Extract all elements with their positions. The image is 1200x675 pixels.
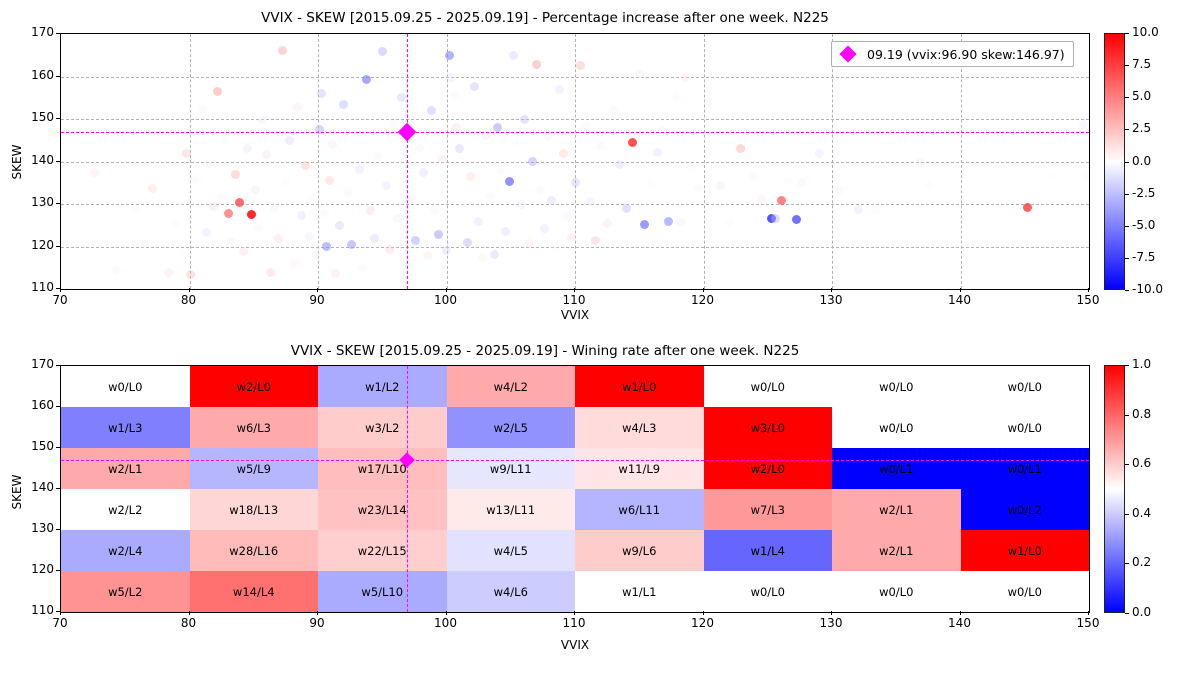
heatmap-colorbar-tick-label: 0.4 [1132, 506, 1151, 520]
heatmap-cell[interactable]: w6/L11 [575, 489, 704, 530]
heatmap-cell[interactable]: w1/L1 [575, 571, 704, 612]
scatter-point [389, 120, 398, 129]
heatmap-cell-label: w1/L0 [1008, 544, 1042, 558]
heatmap-cell[interactable]: w0/L0 [832, 366, 961, 407]
heatmap-xtick: 120 [678, 616, 728, 630]
heatmap-cell[interactable]: w5/L10 [318, 571, 447, 612]
scatter-point [646, 179, 655, 188]
heatmap-cell[interactable]: w0/L1 [961, 448, 1090, 489]
heatmap-cell-label: w1/L4 [751, 544, 785, 558]
scatter-point [270, 203, 279, 212]
heatmap-cell-label: w4/L6 [494, 585, 528, 599]
heatmap-cell-label: w11/L9 [618, 462, 660, 476]
scatter-xtick-mark [317, 288, 318, 292]
scatter-point [792, 215, 801, 224]
scatter-xtick-mark [446, 288, 447, 292]
heatmap-cell[interactable]: w2/L1 [61, 448, 190, 489]
scatter-point [653, 148, 662, 157]
heatmap-ytick-mark [56, 488, 60, 489]
scatter-point [385, 245, 394, 254]
heatmap-xtick-mark [1088, 611, 1089, 615]
heatmap-cell[interactable]: w2/L4 [61, 530, 190, 571]
heatmap-colorbar-tick-mark [1125, 464, 1129, 465]
scatter-point [254, 223, 263, 232]
scatter-point [281, 177, 290, 186]
scatter-xtick: 150 [1063, 293, 1113, 307]
scatter-point [305, 232, 314, 241]
scatter-point [459, 199, 468, 208]
scatter-plot-area[interactable] [60, 33, 1090, 290]
highlight-diamond-marker[interactable] [397, 123, 415, 141]
scatter-point [308, 194, 317, 203]
scatter-colorbar-tick-mark [1125, 290, 1129, 291]
scatter-point [478, 253, 487, 262]
scatter-colorbar-tick-label: 10.0 [1132, 25, 1159, 39]
heatmap-cell-label: w5/L9 [237, 462, 271, 476]
heatmap-cell-label: w4/L3 [622, 421, 656, 435]
heatmap-cell[interactable]: w22/L15 [318, 530, 447, 571]
scatter-point [509, 51, 518, 60]
heatmap-cell-label: w13/L11 [486, 503, 535, 517]
scatter-colorbar-tick-label: -10.0 [1132, 282, 1163, 296]
scatter-colorbar-tick-label: 7.5 [1132, 57, 1151, 71]
scatter-point [536, 186, 545, 195]
scatter-xtick: 120 [678, 293, 728, 307]
heatmap-cell[interactable]: w2/L2 [61, 489, 190, 530]
scatter-colorbar-tick-mark [1125, 33, 1129, 34]
scatter-point [493, 123, 502, 132]
heatmap-cell[interactable]: w17/L10 [318, 448, 447, 489]
scatter-point [1079, 120, 1088, 129]
scatter-point [635, 69, 644, 78]
heatmap-ytick-mark [56, 529, 60, 530]
scatter-point [870, 206, 879, 215]
scatter-point [748, 172, 757, 181]
scatter-point [343, 188, 352, 197]
scatter-point [547, 196, 556, 205]
heatmap-ytick-mark [56, 406, 60, 407]
heatmap-cell[interactable]: w5/L9 [190, 448, 319, 489]
scatter-point [312, 250, 321, 259]
heatmap-cell[interactable]: w9/L6 [575, 530, 704, 571]
heatmap-cell-label: w23/L14 [358, 503, 407, 517]
heatmap-colorbar-tick-mark [1125, 514, 1129, 515]
scatter-point [438, 155, 447, 164]
scatter-point [262, 150, 271, 159]
scatter-point [596, 142, 605, 151]
scatter-point [325, 176, 334, 185]
scatter-point [407, 195, 416, 204]
scatter-ytick: 110 [16, 280, 54, 294]
heatmap-cell[interactable]: w4/L2 [447, 366, 576, 407]
scatter-point [470, 82, 479, 91]
scatter-point [251, 185, 260, 194]
heatmap-ytick-mark [56, 365, 60, 366]
heatmap-xtick-mark [60, 611, 61, 615]
scatter-point [528, 157, 537, 166]
scatter-ytick-mark [56, 33, 60, 34]
heatmap-ytick: 160 [16, 398, 54, 412]
scatter-ytick: 140 [16, 153, 54, 167]
heatmap-cell-label: w4/L5 [494, 544, 528, 558]
scatter-point [835, 185, 844, 194]
scatter-point [513, 137, 522, 146]
heatmap-cell-label: w1/L1 [622, 585, 656, 599]
scatter-point [427, 106, 436, 115]
scatter-ytick: 120 [16, 238, 54, 252]
heatmap-title: VVIX - SKEW [2015.09.25 - 2025.09.19] - … [0, 343, 1090, 359]
heatmap-cell-label: w0/L0 [1008, 380, 1042, 394]
heatmap-cell-label: w0/L0 [1008, 585, 1042, 599]
heatmap-xtick-mark [317, 611, 318, 615]
scatter-point [289, 259, 298, 268]
scatter-xtick: 130 [806, 293, 856, 307]
heatmap-xtick: 150 [1063, 616, 1113, 630]
scatter-point [486, 191, 495, 200]
scatter-point [293, 103, 302, 112]
heatmap-cell[interactable]: w1/L4 [704, 530, 833, 571]
heatmap-colorbar-tick-mark [1125, 613, 1129, 614]
scatter-point [559, 149, 568, 158]
heatmap-cell-label: w0/L0 [108, 380, 142, 394]
scatter-xtick-mark [1088, 288, 1089, 292]
scatter-point [180, 248, 189, 257]
scatter-point [664, 217, 673, 226]
heatmap-colorbar-tick-label: 0.8 [1132, 407, 1151, 421]
heatmap-colorbar-tick-label: 1.0 [1132, 357, 1151, 371]
scatter-xtick-mark [574, 288, 575, 292]
heatmap-cell[interactable]: w0/L0 [832, 571, 961, 612]
scatter-point [382, 181, 391, 190]
scatter-colorbar-tick-label: -5.0 [1132, 218, 1155, 232]
heatmap-cell[interactable]: w2/L1 [832, 530, 961, 571]
scatter-point [681, 73, 690, 82]
scatter-xlabel: VVIX [60, 308, 1090, 322]
heatmap-colorbar-tick-label: 0.2 [1132, 555, 1151, 569]
scatter-colorbar-tick-mark [1125, 258, 1129, 259]
heatmap-colorbar-tick-mark [1125, 365, 1129, 366]
scatter-point [622, 204, 631, 213]
scatter-point [474, 217, 483, 226]
scatter-point [581, 121, 590, 130]
heatmap-cell[interactable]: w1/L0 [961, 530, 1090, 571]
heatmap-cell[interactable]: w6/L3 [190, 407, 319, 448]
heatmap-cell[interactable]: w13/L11 [447, 489, 576, 530]
heatmap-colorbar-tick-label: 0.0 [1132, 605, 1151, 619]
heatmap-cell-label: w2/L2 [108, 503, 142, 517]
heatmap-cell-label: w28/L16 [229, 544, 278, 558]
scatter-point [725, 218, 734, 227]
scatter-point [374, 152, 383, 161]
heatmap-cell[interactable]: w1/L3 [61, 407, 190, 448]
heatmap-cell[interactable]: w18/L13 [190, 489, 319, 530]
scatter-point [1049, 171, 1058, 180]
heatmap-ytick: 130 [16, 521, 54, 535]
scatter-point [347, 240, 356, 249]
heatmap-cell[interactable]: w0/L0 [961, 571, 1090, 612]
heatmap-cell-label: w5/L2 [108, 585, 142, 599]
scatter-point [676, 217, 685, 226]
scatter-xtick-mark [189, 288, 190, 292]
figure-canvas: VVIX - SKEW [2015.09.25 - 2025.09.19] - … [0, 0, 1200, 675]
heatmap-xtick-mark [703, 611, 704, 615]
heatmap-cell-label: w0/L0 [879, 421, 913, 435]
heatmap-cell[interactable]: w4/L3 [575, 407, 704, 448]
scatter-point [687, 163, 696, 172]
heatmap-cell-label: w4/L2 [494, 380, 528, 394]
heatmap-cell-label: w2/L5 [494, 421, 528, 435]
heatmap-cell-label: w2/L4 [108, 544, 142, 558]
heatmap-cell-label: w0/L1 [879, 462, 913, 476]
scatter-point [501, 227, 510, 236]
heatmap-cell[interactable]: w28/L16 [190, 530, 319, 571]
heatmap-cell[interactable]: w1/L2 [318, 366, 447, 407]
heatmap-ytick: 170 [16, 357, 54, 371]
heatmap-cell[interactable]: w3/L0 [704, 407, 833, 448]
scatter-xtick-mark [703, 288, 704, 292]
heatmap-cell[interactable]: w0/L2 [961, 489, 1090, 530]
scatter-point [112, 266, 121, 275]
scatter-xtick: 70 [35, 293, 85, 307]
scatter-ytick: 160 [16, 68, 54, 82]
heatmap-cell[interactable]: w2/L5 [447, 407, 576, 448]
heatmap-cell[interactable]: w3/L2 [318, 407, 447, 448]
scatter-point [694, 183, 703, 192]
scatter-point [328, 140, 337, 149]
gridline-horizontal [61, 77, 1089, 78]
diamond-marker-icon [840, 46, 857, 63]
heatmap-cell-label: w0/L0 [879, 380, 913, 394]
scatter-point [571, 178, 580, 187]
heatmap-plot-area[interactable]: w0/L0w2/L0w1/L2w4/L2w1/L0w0/L0w0/L0w0/L0… [60, 365, 1090, 613]
scatter-point [239, 247, 248, 256]
heatmap-colorbar-tick-mark [1125, 563, 1129, 564]
scatter-colorbar-tick-label: -7.5 [1132, 250, 1155, 264]
heatmap-cell[interactable]: w2/L1 [832, 489, 961, 530]
scatter-point [335, 221, 344, 230]
heatmap-cell-label: w5/L10 [361, 585, 403, 599]
scatter-point [393, 214, 402, 223]
heatmap-cell-label: w18/L13 [229, 503, 278, 517]
scatter-point [190, 175, 199, 184]
scatter-point [771, 214, 780, 223]
heatmap-xtick: 90 [292, 616, 342, 630]
heatmap-xtick-mark [446, 611, 447, 615]
heatmap-ytick-mark [56, 447, 60, 448]
scatter-point [576, 61, 585, 70]
heatmap-cell-label: w2/L1 [879, 503, 913, 517]
scatter-xtick: 90 [292, 293, 342, 307]
scatter-point [916, 158, 925, 167]
scatter-point [401, 271, 410, 280]
scatter-point [497, 165, 506, 174]
scatter-point [757, 195, 766, 204]
scatter-point [615, 160, 624, 169]
scatter-point [784, 177, 793, 186]
heatmap-cell[interactable]: w0/L0 [704, 571, 833, 612]
heatmap-cell-label: w1/L0 [622, 380, 656, 394]
scatter-point [131, 204, 140, 213]
scatter-colorbar-tick-label: 5.0 [1132, 89, 1151, 103]
heatmap-cell[interactable]: w0/L0 [704, 366, 833, 407]
heatmap-colorbar-tick-label: 0.6 [1132, 456, 1151, 470]
heatmap-cell-label: w7/L3 [751, 503, 785, 517]
scatter-point [463, 238, 472, 247]
scatter-point [301, 161, 310, 170]
scatter-point [555, 85, 564, 94]
heatmap-cell-label: w17/L10 [358, 462, 407, 476]
scatter-point [524, 239, 533, 248]
scatter-point [609, 106, 618, 115]
heatmap-cell-label: w0/L0 [879, 585, 913, 599]
scatter-point [517, 200, 526, 209]
scatter-point [450, 91, 459, 100]
scatter-point [1023, 203, 1032, 212]
scatter-point [317, 89, 326, 98]
heatmap-cell-label: w2/L0 [237, 380, 271, 394]
scatter-point [442, 246, 451, 255]
scatter-ytick-mark [56, 76, 60, 77]
scatter-point [362, 75, 371, 84]
heatmap-cell-label: w6/L3 [237, 421, 271, 435]
scatter-point [355, 165, 364, 174]
scatter-point [640, 220, 649, 229]
scatter-point [235, 198, 244, 207]
scatter-ytick-mark [56, 246, 60, 247]
scatter-point [532, 60, 541, 69]
scatter-point [490, 250, 499, 259]
scatter-colorbar-tick-mark [1125, 194, 1129, 195]
scatter-point [320, 208, 329, 217]
scatter-point [563, 212, 572, 221]
crosshair-horizontal [61, 460, 1089, 461]
scatter-point [164, 268, 173, 277]
scatter-point [206, 159, 215, 168]
scatter-colorbar-tick-label: 0.0 [1132, 154, 1151, 168]
scatter-point [90, 168, 99, 177]
scatter-point [505, 177, 514, 186]
heatmap-cell[interactable]: w23/L14 [318, 489, 447, 530]
scatter-point [466, 172, 475, 181]
scatter-point [351, 133, 360, 142]
heatmap-cell-label: w0/L0 [1008, 421, 1042, 435]
heatmap-xtick: 140 [935, 616, 985, 630]
heatmap-cell[interactable]: w0/L0 [61, 366, 190, 407]
heatmap-cell-label: w6/L11 [618, 503, 660, 517]
heatmap-xtick-mark [831, 611, 832, 615]
heatmap-cell[interactable]: w0/L1 [832, 448, 961, 489]
scatter-ytick-mark [56, 203, 60, 204]
scatter-point [854, 205, 863, 214]
scatter-point [266, 268, 275, 277]
scatter-colorbar-tick-mark [1125, 226, 1129, 227]
heatmap-colorbar [1104, 365, 1125, 613]
heatmap-cell[interactable]: w0/L0 [961, 407, 1090, 448]
scatter-point [285, 136, 294, 145]
heatmap-cell[interactable]: w5/L2 [61, 571, 190, 612]
heatmap-cell-label: w2/L0 [751, 462, 785, 476]
scatter-colorbar-tick-label: 2.5 [1132, 121, 1151, 135]
heatmap-cell[interactable]: w2/L0 [704, 448, 833, 489]
scatter-ytick: 150 [16, 110, 54, 124]
heatmap-cell[interactable]: w0/L0 [832, 407, 961, 448]
scatter-point [278, 46, 287, 55]
scatter-point [247, 210, 256, 219]
heatmap-cell[interactable]: w1/L0 [575, 366, 704, 407]
crosshair-vertical [407, 366, 408, 612]
crosshair-vertical [407, 34, 408, 289]
scatter-point [423, 251, 432, 260]
scatter-point [378, 47, 387, 56]
scatter-point [415, 143, 424, 152]
scatter-point [243, 144, 252, 153]
scatter-point [671, 92, 680, 101]
scatter-point [274, 234, 283, 243]
scatter-xtick: 110 [549, 293, 599, 307]
scatter-point [540, 224, 549, 233]
scatter-point [258, 115, 267, 124]
scatter-colorbar-tick-mark [1125, 129, 1129, 130]
scatter-point [231, 170, 240, 179]
heatmap-cell[interactable]: w9/L11 [447, 448, 576, 489]
scatter-ytick: 130 [16, 195, 54, 209]
gridline-horizontal [61, 247, 1089, 248]
crosshair-horizontal [61, 132, 1089, 133]
scatter-point [925, 181, 934, 190]
heatmap-cell[interactable]: w2/L0 [190, 366, 319, 407]
heatmap-xtick: 110 [549, 616, 599, 630]
heatmap-cell[interactable]: w4/L6 [447, 571, 576, 612]
scatter-colorbar-tick-mark [1125, 97, 1129, 98]
scatter-point [220, 135, 229, 144]
scatter-point [411, 236, 420, 245]
heatmap-colorbar-tick-mark [1125, 415, 1129, 416]
scatter-point [176, 200, 185, 209]
scatter-point [397, 93, 406, 102]
heatmap-cell[interactable]: w7/L3 [704, 489, 833, 530]
heatmap-cell-label: w9/L6 [622, 544, 656, 558]
scatter-xtick: 100 [421, 293, 471, 307]
scatter-point [358, 263, 367, 272]
heatmap-cell-label: w14/L4 [233, 585, 275, 599]
scatter-point [182, 149, 191, 158]
scatter-point [202, 228, 211, 237]
scatter-xtick: 140 [935, 293, 985, 307]
heatmap-cell[interactable]: w11/L9 [575, 448, 704, 489]
heatmap-xtick: 130 [806, 616, 856, 630]
heatmap-cell-label: w0/L1 [1008, 462, 1042, 476]
heatmap-cell[interactable]: w4/L5 [447, 530, 576, 571]
scatter-point [520, 115, 529, 124]
heatmap-ytick: 140 [16, 480, 54, 494]
scatter-legend[interactable]: 09.19 (vvix:96.90 skew:146.97) [831, 41, 1074, 67]
heatmap-cell-label: w3/L2 [365, 421, 399, 435]
heatmap-ytick: 110 [16, 603, 54, 617]
heatmap-cell-label: w0/L0 [751, 380, 785, 394]
scatter-point [213, 87, 222, 96]
heatmap-ytick: 150 [16, 439, 54, 453]
heatmap-cell[interactable]: w0/L0 [961, 366, 1090, 407]
scatter-point [736, 144, 745, 153]
scatter-ytick-mark [56, 118, 60, 119]
scatter-point [716, 181, 725, 190]
heatmap-xlabel: VVIX [60, 638, 1090, 652]
scatter-point [628, 138, 637, 147]
scatter-point [297, 211, 306, 220]
heatmap-cell[interactable]: w14/L4 [190, 571, 319, 612]
scatter-point [551, 243, 560, 252]
scatter-point [797, 178, 806, 187]
